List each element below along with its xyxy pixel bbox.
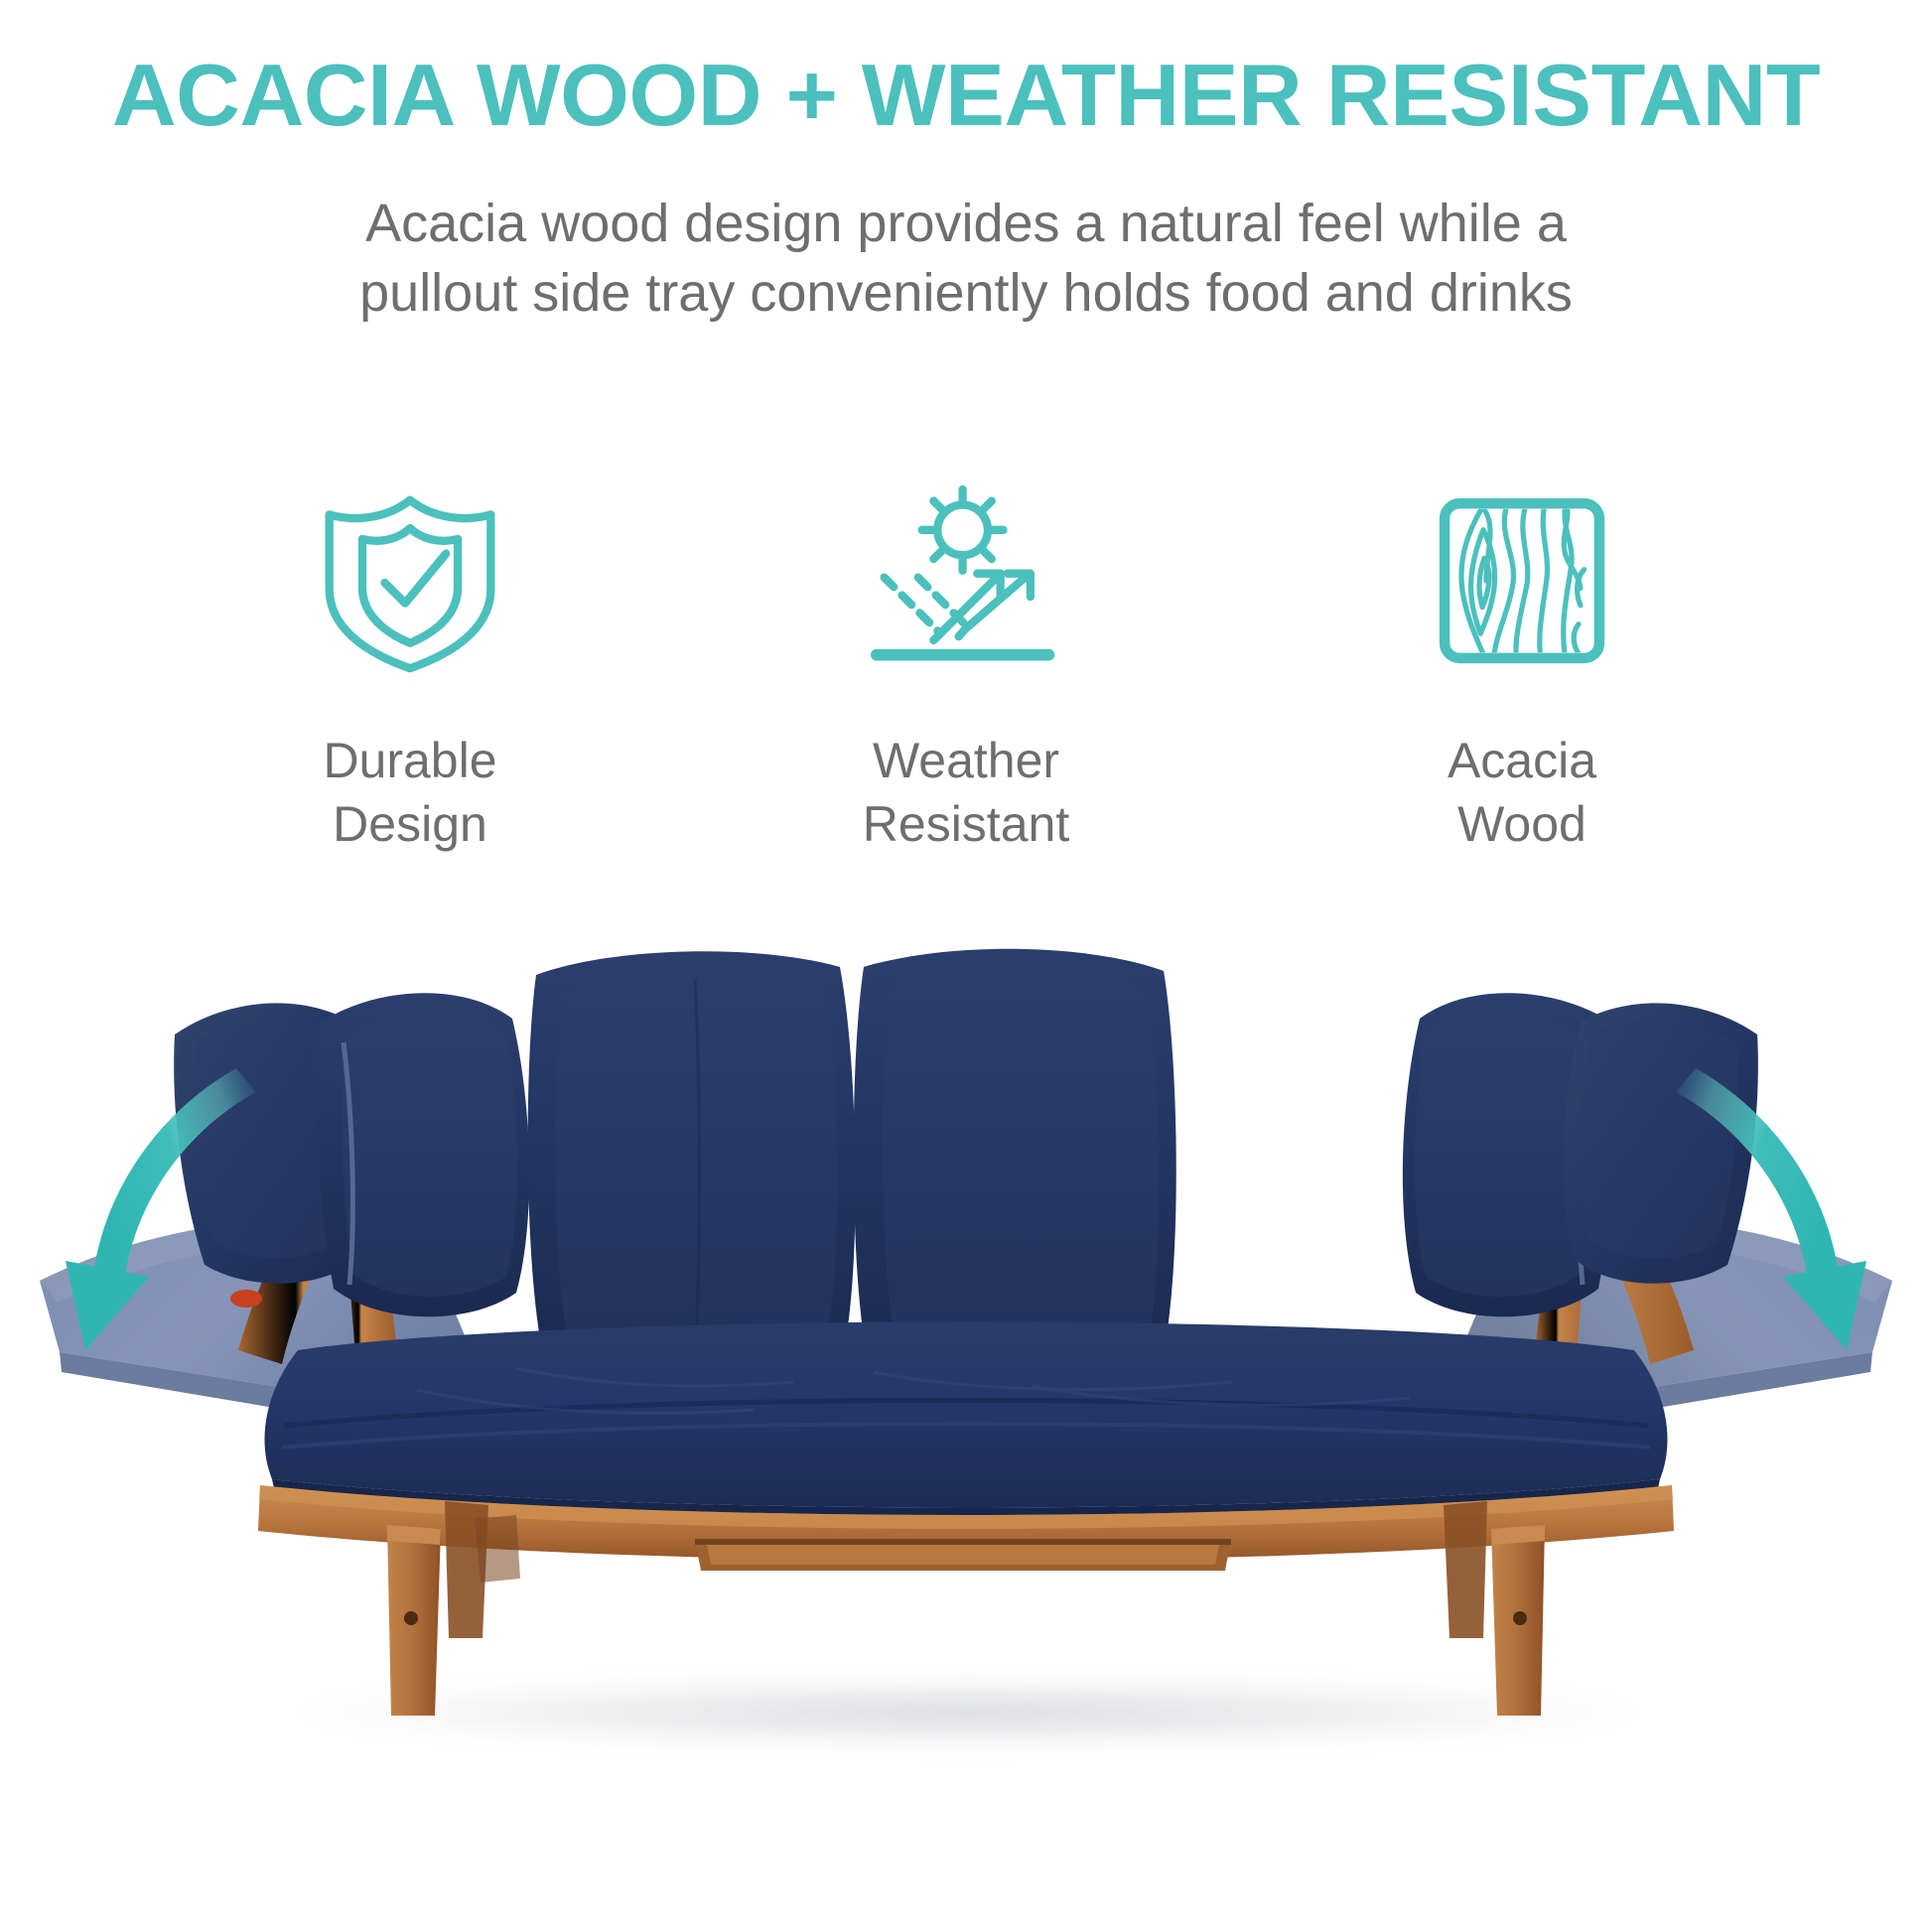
page-title: ACACIA WOOD + WEATHER RESISTANT: [0, 52, 1932, 139]
product-photo: [0, 923, 1932, 1737]
feature-label-line-1: Durable: [323, 729, 496, 792]
shield-check-icon: [296, 467, 524, 695]
feature-acacia-wood: Acacia Wood: [1244, 467, 1800, 856]
back-cushion-right: [854, 949, 1176, 1375]
sun-reflect-icon: [852, 467, 1080, 695]
subtitle: Acacia wood design provides a natural fe…: [0, 189, 1932, 328]
pullout-side-tray: [695, 1539, 1231, 1571]
feature-label: Durable Design: [323, 729, 496, 856]
feature-durable-design: Durable Design: [132, 467, 688, 856]
feature-label-line-2: Wood: [1448, 792, 1596, 856]
feature-list: Durable Design: [0, 467, 1932, 856]
feature-label-line-2: Resistant: [863, 792, 1069, 856]
feature-label-line-2: Design: [323, 792, 496, 856]
hinge-detail: [230, 1290, 262, 1308]
subtitle-line-2: pullout side tray conveniently holds foo…: [0, 258, 1932, 328]
feature-label: Weather Resistant: [863, 729, 1069, 856]
right-arm-bolster: [1564, 1003, 1758, 1283]
left-side-pillow: [317, 993, 529, 1316]
marketing-image: ACACIA WOOD + WEATHER RESISTANT Acacia w…: [0, 0, 1932, 1932]
feature-label-line-1: Acacia: [1448, 729, 1596, 792]
feature-label: Acacia Wood: [1448, 729, 1596, 856]
feature-weather-resistant: Weather Resistant: [688, 467, 1244, 856]
back-cushion-left: [528, 951, 856, 1374]
wood-grain-icon: [1408, 467, 1636, 695]
seat-cushion: [264, 1322, 1667, 1526]
subtitle-line-1: Acacia wood design provides a natural fe…: [0, 189, 1932, 258]
feature-label-line-1: Weather: [863, 729, 1069, 792]
